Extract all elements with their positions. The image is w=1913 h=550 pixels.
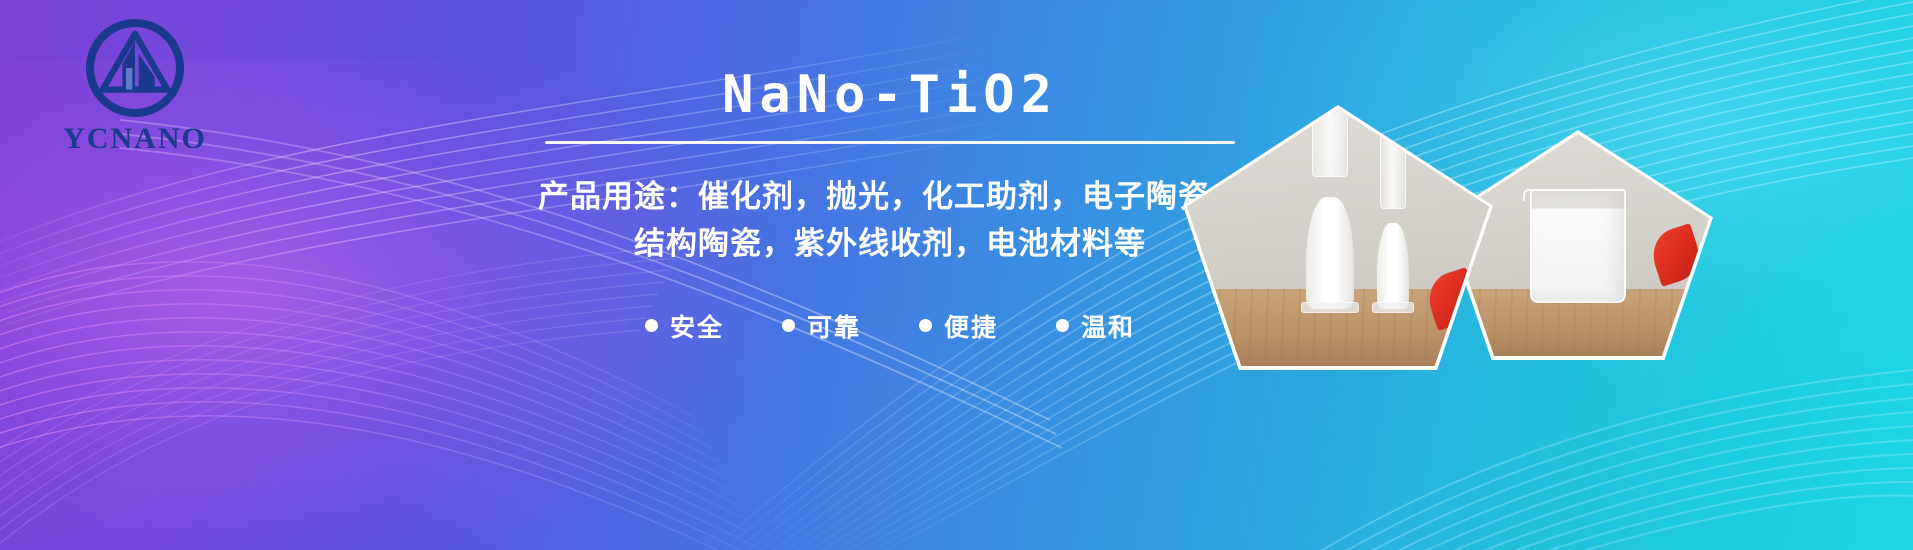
title-divider: [545, 141, 1235, 144]
vase-glass-base: [1372, 302, 1414, 313]
tall-white-vase: [1291, 159, 1369, 309]
feature-label: 安全: [670, 308, 724, 344]
pentagon-photo-beaker: [1443, 130, 1713, 360]
ycnano-triangle-circle-logo: [81, 14, 189, 122]
vase-glass-neck: [1312, 109, 1348, 177]
feature-item-convenient: 便捷: [919, 308, 998, 344]
pentagon-photo-beaker-image: [1447, 134, 1709, 356]
vase-glass-base: [1301, 302, 1359, 313]
bullet-dot-icon: [1056, 319, 1069, 332]
product-photo-group: [1153, 0, 1913, 550]
bullet-dot-icon: [645, 319, 658, 332]
bullet-dot-icon: [782, 319, 795, 332]
feature-label: 便捷: [944, 308, 998, 344]
vase-white-body: [1377, 223, 1409, 309]
beaker-spout: [1523, 189, 1541, 201]
vase-glass-neck: [1380, 135, 1406, 209]
feature-label: 可靠: [807, 308, 861, 344]
feature-item-mild: 温和: [1056, 308, 1135, 344]
brand-wordmark: YCNANO: [40, 124, 230, 154]
brand-logo[interactable]: YCNANO: [40, 14, 230, 154]
short-white-vase: [1363, 191, 1423, 309]
pentagon-photo-vases-image: [1187, 109, 1489, 366]
bullet-dot-icon: [919, 319, 932, 332]
feature-item-safe: 安全: [645, 308, 724, 344]
feature-label: 温和: [1081, 308, 1135, 344]
pentagon-photo-vases: [1183, 105, 1493, 370]
vase-white-body: [1306, 197, 1354, 309]
product-banner: YCNANO NaNo-TiO2 产品用途：催化剂，抛光，化工助剂，电子陶瓷， …: [0, 0, 1913, 550]
beaker-with-white-liquid: [1530, 189, 1626, 303]
feature-item-reliable: 可靠: [782, 308, 861, 344]
